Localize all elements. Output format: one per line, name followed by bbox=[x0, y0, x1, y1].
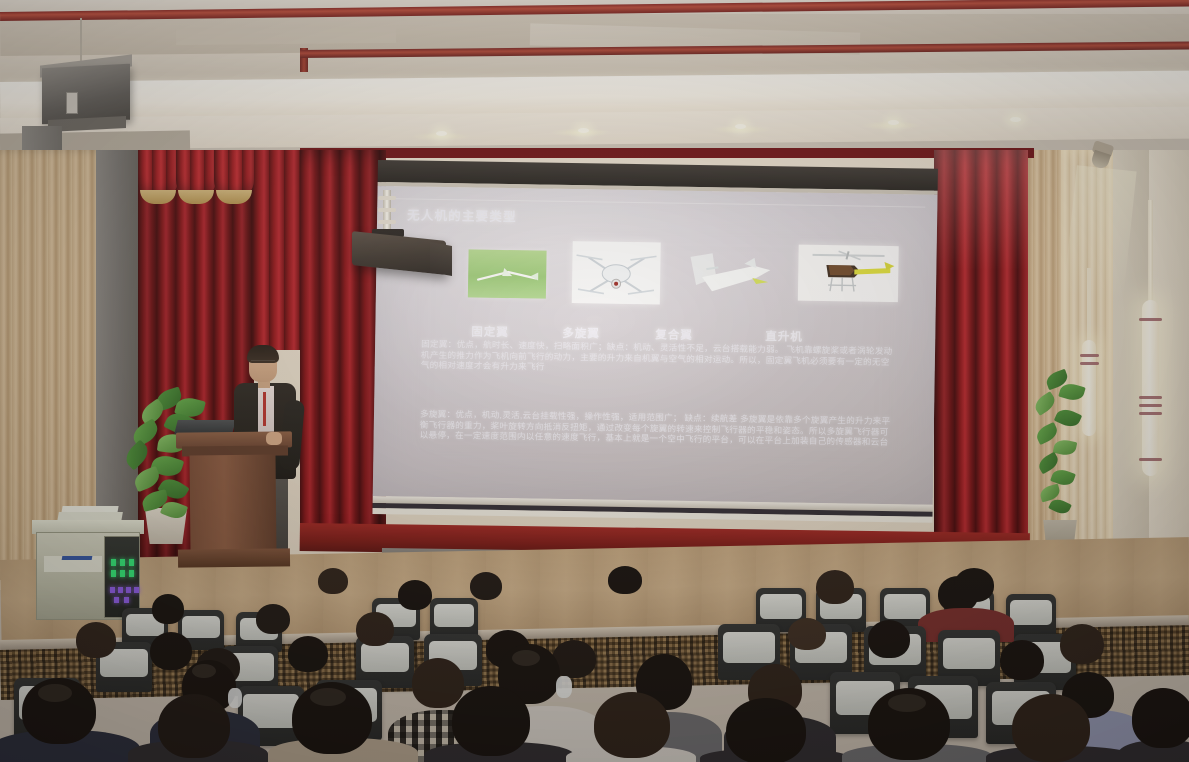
downlight-3-icon bbox=[735, 124, 746, 129]
downlight-1-icon bbox=[436, 131, 447, 136]
audience-head bbox=[1060, 624, 1104, 664]
audience-head bbox=[150, 632, 192, 670]
multirotor-quadcopter-photo bbox=[572, 241, 661, 304]
audience-head bbox=[954, 568, 994, 602]
projection-screen: 无人机的主要类型 bbox=[372, 160, 938, 537]
potted-plant-right bbox=[1030, 372, 1092, 552]
audience-head bbox=[1012, 694, 1090, 762]
fixed-wing-uav-photo bbox=[468, 249, 547, 298]
ceiling-vent bbox=[176, 27, 396, 45]
projector-mount-collar-3 bbox=[378, 220, 396, 224]
audience-head bbox=[158, 694, 230, 758]
helicopter-uav-photo bbox=[798, 245, 899, 303]
hybrid-vtol-uav-photo bbox=[682, 247, 775, 304]
audience-head bbox=[868, 620, 910, 658]
quadcopter-icon bbox=[572, 241, 661, 304]
downlight-5-icon bbox=[1010, 117, 1021, 122]
audience-head bbox=[1132, 688, 1189, 748]
slide-caption-fixed-wing: 固定翼 bbox=[471, 323, 509, 340]
downlight-4-icon bbox=[888, 120, 899, 125]
speaker-glasses-icon bbox=[251, 360, 275, 365]
audience-head bbox=[608, 566, 642, 594]
audience-head bbox=[318, 568, 348, 594]
audience-head bbox=[726, 698, 806, 762]
audience-head bbox=[398, 580, 432, 610]
slide-caption-multirotor: 多旋翼 bbox=[562, 325, 600, 342]
hybrid-vtol-icon bbox=[682, 247, 775, 304]
audience-head bbox=[1000, 640, 1044, 680]
wall-sconce-right bbox=[1142, 300, 1159, 476]
podium-body bbox=[189, 455, 276, 554]
curtain-track bbox=[300, 148, 1034, 158]
audience-head bbox=[816, 570, 854, 604]
fixed-wing-uav-icon bbox=[468, 249, 547, 298]
slide-caption-helicopter: 直升机 bbox=[765, 328, 803, 345]
helicopter-icon bbox=[798, 245, 899, 303]
auditorium-photo: 无人机的主要类型 bbox=[0, 0, 1189, 762]
audience-seating bbox=[0, 560, 1189, 762]
projector-lens-housing bbox=[430, 242, 452, 276]
audience-head bbox=[256, 604, 290, 634]
slide-caption-hybrid: 复合翼 bbox=[655, 326, 693, 343]
projector-mount-collar-1 bbox=[378, 196, 396, 200]
audience-head bbox=[594, 692, 670, 758]
ceiling-air-handler bbox=[42, 64, 130, 125]
audience-head bbox=[152, 594, 184, 624]
audience-head bbox=[76, 622, 116, 658]
curtain-valance-left bbox=[136, 150, 258, 210]
wall-sconce-stem-right bbox=[1148, 200, 1153, 304]
projector-mount-collar-2 bbox=[378, 208, 396, 212]
audience-head bbox=[470, 572, 502, 600]
stage-curtain-right-sheer bbox=[934, 150, 1028, 270]
audience-head bbox=[288, 636, 328, 672]
audience-head bbox=[412, 658, 464, 708]
audience-head bbox=[788, 618, 826, 650]
speaker-hand bbox=[266, 432, 282, 445]
audience-head bbox=[356, 612, 394, 646]
downlight-2-icon bbox=[578, 128, 589, 133]
ceiling-unit-panel bbox=[66, 92, 78, 114]
audience-head bbox=[452, 686, 530, 756]
speaker-lanyard bbox=[263, 392, 266, 426]
wall-sconce-stem-mid bbox=[1087, 268, 1091, 342]
